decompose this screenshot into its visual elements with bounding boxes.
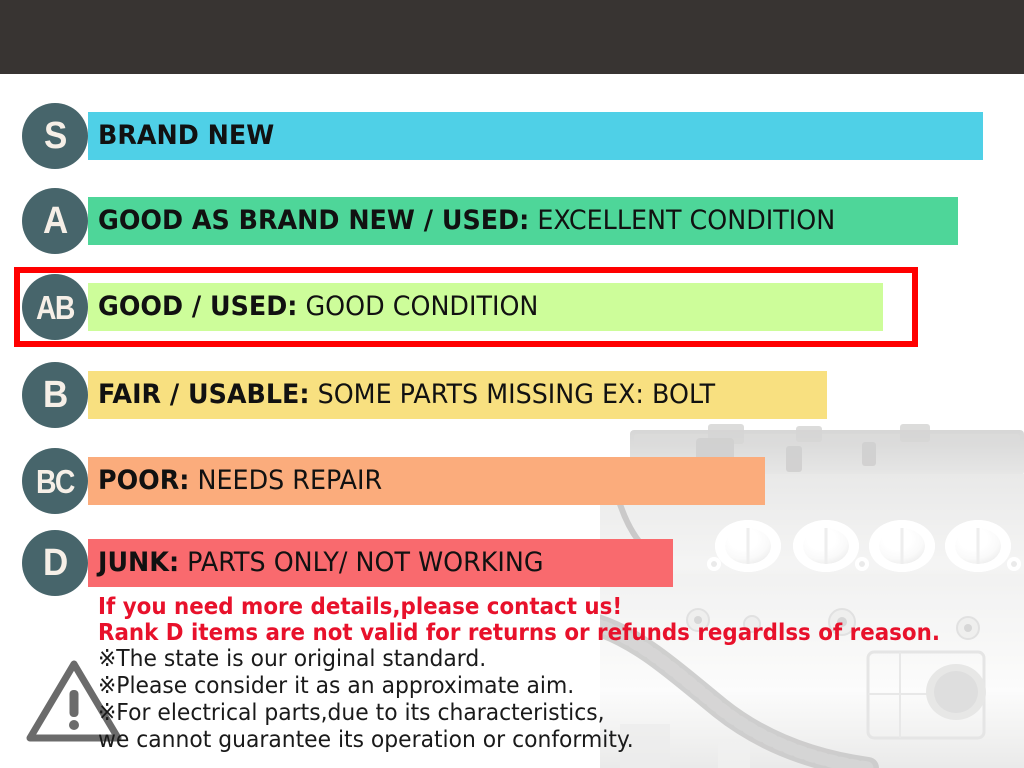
rank-description-bold: FAIR / USABLE: — [98, 379, 310, 410]
note-black-line: ※For electrical parts,due to its charact… — [98, 700, 972, 727]
rank-row: A GOOD AS BRAND NEW / USED: EXCELLENT CO… — [0, 197, 1024, 245]
rank-description-rest: GOOD CONDITION — [297, 291, 538, 322]
note-black-line: we cannot guarantee its operation or con… — [98, 727, 972, 754]
rank-badge-label: BC — [36, 465, 74, 498]
note-black-line: ※The state is our original standard. — [98, 646, 972, 673]
rank-row: D JUNK: PARTS ONLY/ NOT WORKING — [0, 539, 1024, 587]
rank-description: GOOD AS BRAND NEW / USED: EXCELLENT COND… — [98, 197, 835, 245]
rank-row: B FAIR / USABLE: SOME PARTS MISSING EX: … — [0, 371, 1024, 419]
rank-description-rest: SOME PARTS MISSING EX: BOLT — [310, 379, 716, 410]
rank-description-rest: EXCELLENT CONDITION — [529, 205, 835, 236]
rank-badge-label: A — [43, 202, 67, 240]
rank-badge-label: S — [44, 117, 66, 155]
rank-description-rest: NEEDS REPAIR — [189, 465, 382, 496]
rank-description-bold: BRAND NEW — [98, 120, 274, 151]
rank-badge-label: B — [43, 376, 67, 414]
rank-badge: D — [22, 530, 88, 596]
page-header — [0, 0, 1024, 74]
rank-badge: S — [22, 103, 88, 169]
rank-badge-label: D — [43, 544, 67, 582]
condition-grade-chart: LEVEL OF ITEM'S CONDITION S BRAND NEW A … — [0, 0, 1024, 768]
rank-description-rest: PARTS ONLY/ NOT WORKING — [179, 547, 543, 578]
rank-description: BRAND NEW — [98, 112, 274, 160]
rank-description: JUNK: PARTS ONLY/ NOT WORKING — [98, 539, 544, 587]
rank-row: AB GOOD / USED: GOOD CONDITION — [0, 283, 1024, 331]
rank-description-bold: JUNK: — [98, 547, 179, 578]
rank-description-bold: GOOD AS BRAND NEW / USED: — [98, 205, 529, 236]
rank-badge-label: AB — [36, 291, 74, 324]
rank-description-bold: GOOD / USED: — [98, 291, 297, 322]
note-red-line: If you need more details,please contact … — [98, 594, 954, 620]
rank-badge: BC — [22, 448, 88, 514]
rank-description: FAIR / USABLE: SOME PARTS MISSING EX: BO… — [98, 371, 715, 419]
rank-badge: A — [22, 188, 88, 254]
rank-description: POOR: NEEDS REPAIR — [98, 457, 382, 505]
note-black-line: ※Please consider it as an approximate ai… — [98, 673, 972, 700]
rank-badge: AB — [22, 274, 88, 340]
rank-row: S BRAND NEW — [0, 112, 1024, 160]
rank-row: BC POOR: NEEDS REPAIR — [0, 457, 1024, 505]
note-red-line: Rank D items are not valid for returns o… — [98, 620, 954, 646]
rank-description: GOOD / USED: GOOD CONDITION — [98, 283, 538, 331]
rank-badge: B — [22, 362, 88, 428]
notes-block: If you need more details,please contact … — [98, 594, 1018, 754]
rank-description-bold: POOR: — [98, 465, 189, 496]
